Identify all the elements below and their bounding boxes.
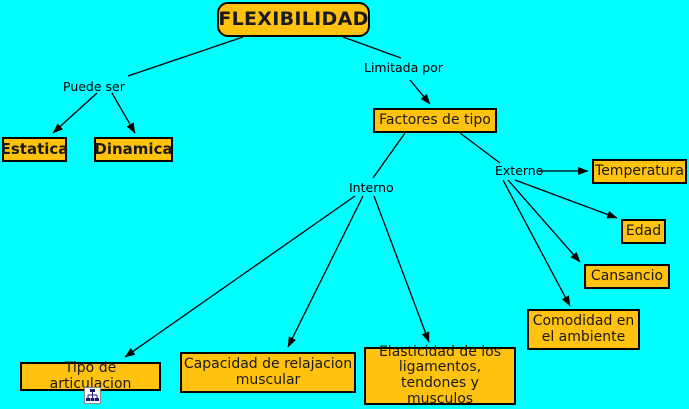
link-label-text: Interno — [349, 180, 394, 195]
node-label: Cansancio — [591, 269, 663, 285]
link-label-externo[interactable]: Externo — [495, 163, 543, 178]
node-label: Temperatura — [595, 164, 684, 180]
link-label-text: Externo — [495, 163, 543, 178]
node-temperatura[interactable]: Temperatura — [592, 159, 687, 184]
edge-root-to-limitada-por — [343, 37, 401, 58]
node-cansancio[interactable]: Cansancio — [584, 264, 670, 289]
node-label: Estatica — [1, 141, 69, 158]
edge-factores-to-externo — [460, 133, 500, 163]
node-label: Comodidad en el ambiente — [529, 314, 638, 345]
edge-limitada-por-to-factores — [410, 80, 430, 104]
edge-root-to-puede-ser — [128, 37, 243, 76]
edge-puede-ser-to-dinamica — [112, 93, 135, 133]
edge-externo-to-comodidad — [503, 180, 570, 306]
node-edad[interactable]: Edad — [621, 219, 666, 244]
edge-interno-to-tipo-articulacion — [125, 196, 355, 357]
node-label: Factores de tipo — [379, 113, 491, 129]
node-comodidad-en-el-ambiente[interactable]: Comodidad en el ambiente — [527, 309, 640, 350]
node-dinamica[interactable]: Dinamica — [94, 137, 173, 162]
edge-factores-to-interno — [373, 133, 405, 178]
node-flexibilidad[interactable]: FLEXIBILIDAD — [217, 2, 370, 37]
node-factores-de-tipo[interactable]: Factores de tipo — [373, 108, 497, 133]
edge-interno-to-capacidad-relajacion — [288, 196, 363, 347]
link-label-limitada-por[interactable]: Limitada por — [364, 60, 443, 75]
node-label: FLEXIBILIDAD — [218, 9, 368, 30]
node-label: Capacidad de relajacion muscular — [182, 357, 354, 388]
node-estatica[interactable]: Estatica — [2, 137, 67, 162]
node-label: Elasticidad de los ligamentos, tendones … — [366, 345, 514, 408]
node-elasticidad-ligamentos-tendones-musculos[interactable]: Elasticidad de los ligamentos, tendones … — [364, 347, 516, 405]
concept-map-resource-icon[interactable] — [84, 387, 101, 404]
concept-map-canvas: FLEXIBILIDAD Puede ser Limitada por Inte… — [0, 0, 689, 409]
edge-puede-ser-to-estatica — [53, 93, 97, 133]
node-label: Edad — [626, 224, 661, 240]
link-label-text: Limitada por — [364, 60, 443, 75]
link-label-puede-ser[interactable]: Puede ser — [63, 79, 125, 94]
edge-externo-to-cansancio — [508, 180, 580, 262]
link-label-interno[interactable]: Interno — [349, 180, 394, 195]
node-capacidad-de-relajacion-muscular[interactable]: Capacidad de relajacion muscular — [180, 352, 356, 393]
node-label: Dinamica — [94, 141, 172, 158]
link-label-text: Puede ser — [63, 79, 125, 94]
edge-externo-to-edad — [515, 180, 617, 218]
edge-interno-to-elasticidad — [374, 196, 429, 342]
